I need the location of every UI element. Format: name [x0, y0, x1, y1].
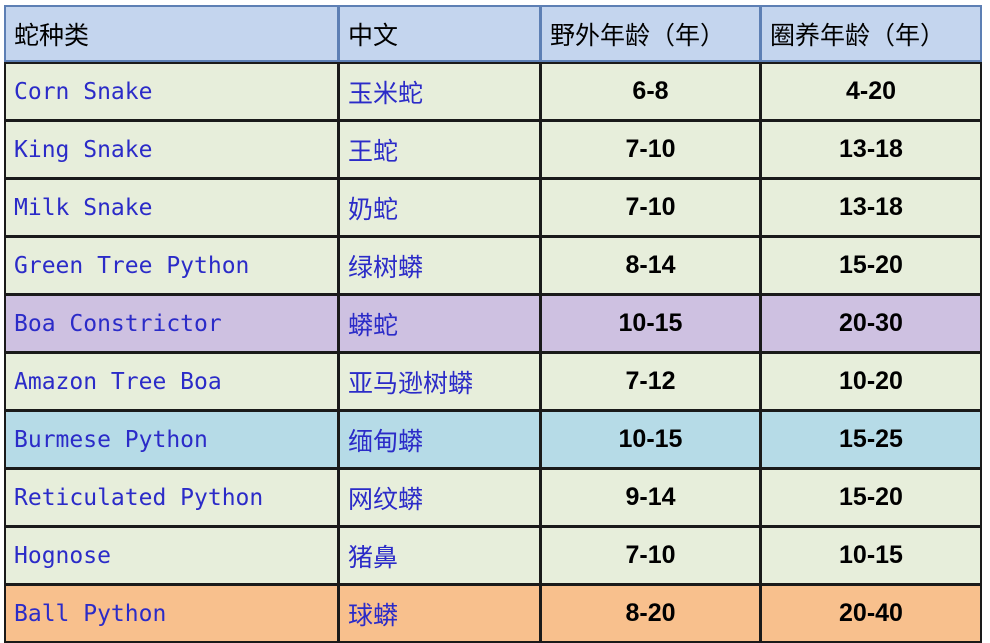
cell-wild-age: 6-8 — [540, 62, 760, 121]
cell-species: Amazon Tree Boa — [4, 353, 338, 411]
cell-chinese: 玉米蛇 — [338, 62, 540, 121]
cell-chinese: 王蛇 — [338, 121, 540, 179]
cell-captive-age: 4-20 — [760, 62, 982, 121]
table-row: Ball Python球蟒8-2020-40 — [4, 585, 982, 643]
table-body: Corn Snake玉米蛇6-84-20King Snake王蛇7-1013-1… — [4, 62, 982, 643]
table-row: Boa Constrictor蟒蛇10-1520-30 — [4, 295, 982, 353]
cell-chinese: 绿树蟒 — [338, 237, 540, 295]
table-header: 蛇种类 中文 野外年龄（年） 圈养年龄（年） — [4, 5, 982, 62]
cell-species: Boa Constrictor — [4, 295, 338, 353]
table-row: King Snake王蛇7-1013-18 — [4, 121, 982, 179]
column-header-chinese: 中文 — [338, 5, 540, 62]
table-row: Reticulated Python网纹蟒9-1415-20 — [4, 469, 982, 527]
snake-lifespan-table: 蛇种类 中文 野外年龄（年） 圈养年龄（年） Corn Snake玉米蛇6-84… — [4, 5, 982, 643]
cell-captive-age: 15-20 — [760, 237, 982, 295]
cell-wild-age: 8-14 — [540, 237, 760, 295]
cell-chinese: 网纹蟒 — [338, 469, 540, 527]
cell-species: King Snake — [4, 121, 338, 179]
cell-species: Hognose — [4, 527, 338, 585]
cell-wild-age: 10-15 — [540, 295, 760, 353]
cell-species: Ball Python — [4, 585, 338, 643]
table-row: Amazon Tree Boa亚马逊树蟒7-1210-20 — [4, 353, 982, 411]
cell-chinese: 球蟒 — [338, 585, 540, 643]
snake-lifespan-table-container: 蛇种类 中文 野外年龄（年） 圈养年龄（年） Corn Snake玉米蛇6-84… — [4, 5, 982, 643]
cell-species: Corn Snake — [4, 62, 338, 121]
table-row: Hognose猪鼻7-1010-15 — [4, 527, 982, 585]
table-row: Corn Snake玉米蛇6-84-20 — [4, 62, 982, 121]
cell-wild-age: 7-10 — [540, 527, 760, 585]
cell-captive-age: 20-30 — [760, 295, 982, 353]
cell-wild-age: 10-15 — [540, 411, 760, 469]
cell-chinese: 亚马逊树蟒 — [338, 353, 540, 411]
cell-chinese: 猪鼻 — [338, 527, 540, 585]
cell-wild-age: 9-14 — [540, 469, 760, 527]
cell-captive-age: 15-25 — [760, 411, 982, 469]
cell-wild-age: 8-20 — [540, 585, 760, 643]
column-header-species: 蛇种类 — [4, 5, 338, 62]
table-row: Green Tree Python绿树蟒8-1415-20 — [4, 237, 982, 295]
column-header-captive-age: 圈养年龄（年） — [760, 5, 982, 62]
cell-chinese: 缅甸蟒 — [338, 411, 540, 469]
cell-captive-age: 10-15 — [760, 527, 982, 585]
cell-species: Reticulated Python — [4, 469, 338, 527]
cell-captive-age: 20-40 — [760, 585, 982, 643]
cell-captive-age: 13-18 — [760, 179, 982, 237]
table-row: Milk Snake奶蛇7-1013-18 — [4, 179, 982, 237]
column-header-wild-age: 野外年龄（年） — [540, 5, 760, 62]
cell-species: Burmese Python — [4, 411, 338, 469]
cell-captive-age: 15-20 — [760, 469, 982, 527]
header-row: 蛇种类 中文 野外年龄（年） 圈养年龄（年） — [4, 5, 982, 62]
cell-species: Green Tree Python — [4, 237, 338, 295]
cell-species: Milk Snake — [4, 179, 338, 237]
cell-wild-age: 7-12 — [540, 353, 760, 411]
table-row: Burmese Python缅甸蟒10-1515-25 — [4, 411, 982, 469]
cell-wild-age: 7-10 — [540, 121, 760, 179]
cell-chinese: 蟒蛇 — [338, 295, 540, 353]
cell-captive-age: 13-18 — [760, 121, 982, 179]
cell-captive-age: 10-20 — [760, 353, 982, 411]
cell-wild-age: 7-10 — [540, 179, 760, 237]
cell-chinese: 奶蛇 — [338, 179, 540, 237]
